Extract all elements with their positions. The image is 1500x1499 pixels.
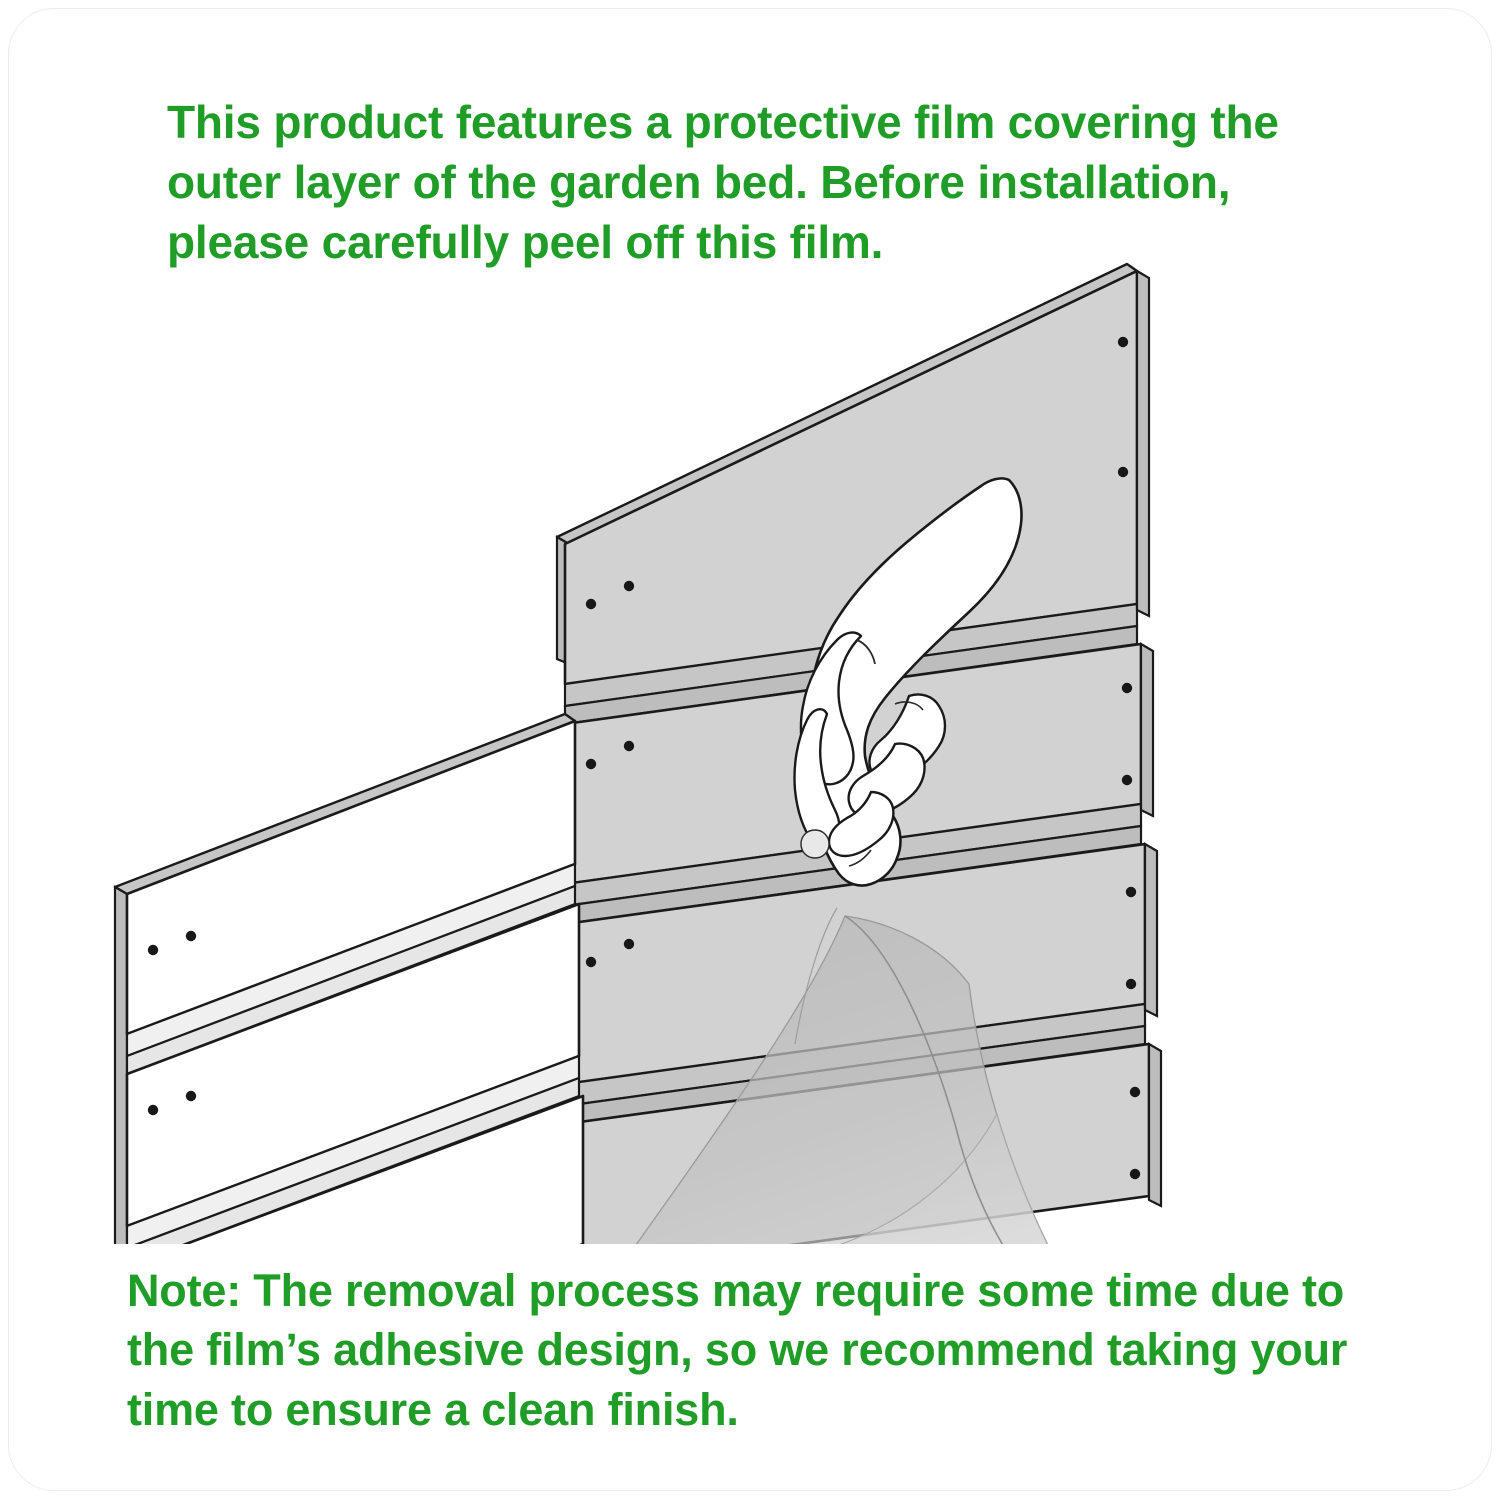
screw-hole <box>1130 1087 1140 1097</box>
screw-hole <box>1126 887 1136 897</box>
screw-hole <box>148 1105 158 1115</box>
thumbnail <box>801 830 829 858</box>
screw-hole <box>186 1091 196 1101</box>
screw-hole <box>624 741 634 751</box>
screw-hole <box>1122 683 1132 693</box>
screw-hole <box>186 931 196 941</box>
screw-hole <box>1122 775 1132 785</box>
screw-hole <box>586 599 596 609</box>
screw-hole <box>624 939 634 949</box>
page-root: This product features a protective film … <box>0 0 1500 1499</box>
screw-hole <box>586 759 596 769</box>
instruction-card: This product features a protective film … <box>8 8 1492 1491</box>
screw-hole <box>148 945 158 955</box>
illustration-container <box>9 244 1500 1244</box>
screw-hole <box>1126 979 1136 989</box>
panel-lower-slat-group <box>115 714 583 1244</box>
garden-bed-panel-film-peel-diagram <box>9 244 1500 1244</box>
note-text: Note: The removal process may require so… <box>127 1261 1417 1439</box>
screw-hole <box>1118 467 1128 477</box>
screw-hole <box>586 957 596 967</box>
lower-slat-left-lip <box>115 887 127 1244</box>
screw-hole <box>1118 337 1128 347</box>
screw-hole <box>624 581 634 591</box>
screw-hole <box>1130 1169 1140 1179</box>
